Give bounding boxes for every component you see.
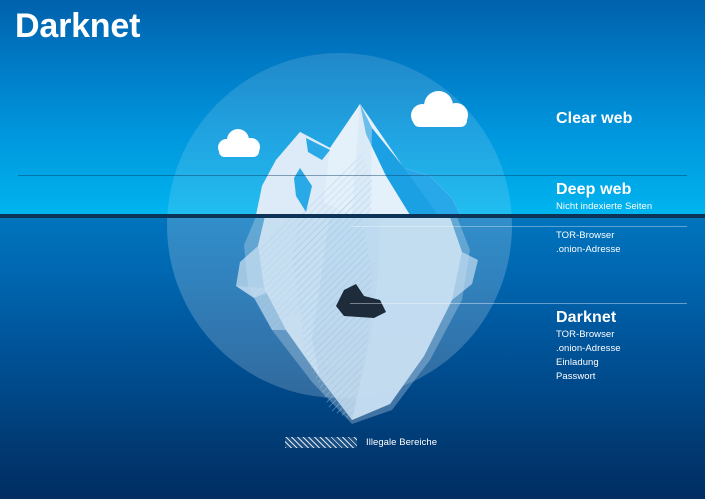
label-tor-line: TOR-Browser [556, 229, 621, 243]
iceberg-submerged [236, 212, 478, 424]
page-title: Darknet [15, 7, 140, 46]
legend-label: Illegale Bereiche [366, 437, 437, 448]
label-deep-web: Deep web Nicht indexierte Seiten [556, 180, 652, 214]
label-tor: TOR-Browser .onion-Adresse [556, 229, 621, 257]
divider-darknet [350, 303, 687, 304]
darknet-iceberg-infographic: Darknet Clear web Deep web Nicht indexie… [0, 0, 705, 499]
label-darknet: Darknet TOR-Browser .onion-Adresse Einla… [556, 308, 621, 384]
label-darknet-heading: Darknet [556, 308, 621, 328]
cloud-icon [411, 91, 468, 127]
divider-deep-web [18, 175, 687, 176]
waterline [0, 214, 705, 218]
label-darknet-line: .onion-Adresse [556, 342, 621, 356]
label-clear-web: Clear web [556, 109, 633, 129]
label-darknet-line: Passwort [556, 370, 621, 384]
label-darknet-line: Einladung [556, 356, 621, 370]
label-deep-web-heading: Deep web [556, 180, 652, 200]
label-darknet-line: TOR-Browser [556, 328, 621, 342]
divider-tor [352, 226, 687, 227]
cloud-icon [218, 129, 260, 157]
label-clear-web-heading: Clear web [556, 109, 633, 129]
label-deep-web-line: Nicht indexierte Seiten [556, 200, 652, 214]
label-tor-line: .onion-Adresse [556, 243, 621, 257]
legend-swatch-hatch [285, 437, 357, 448]
legend: Illegale Bereiche [285, 437, 437, 448]
